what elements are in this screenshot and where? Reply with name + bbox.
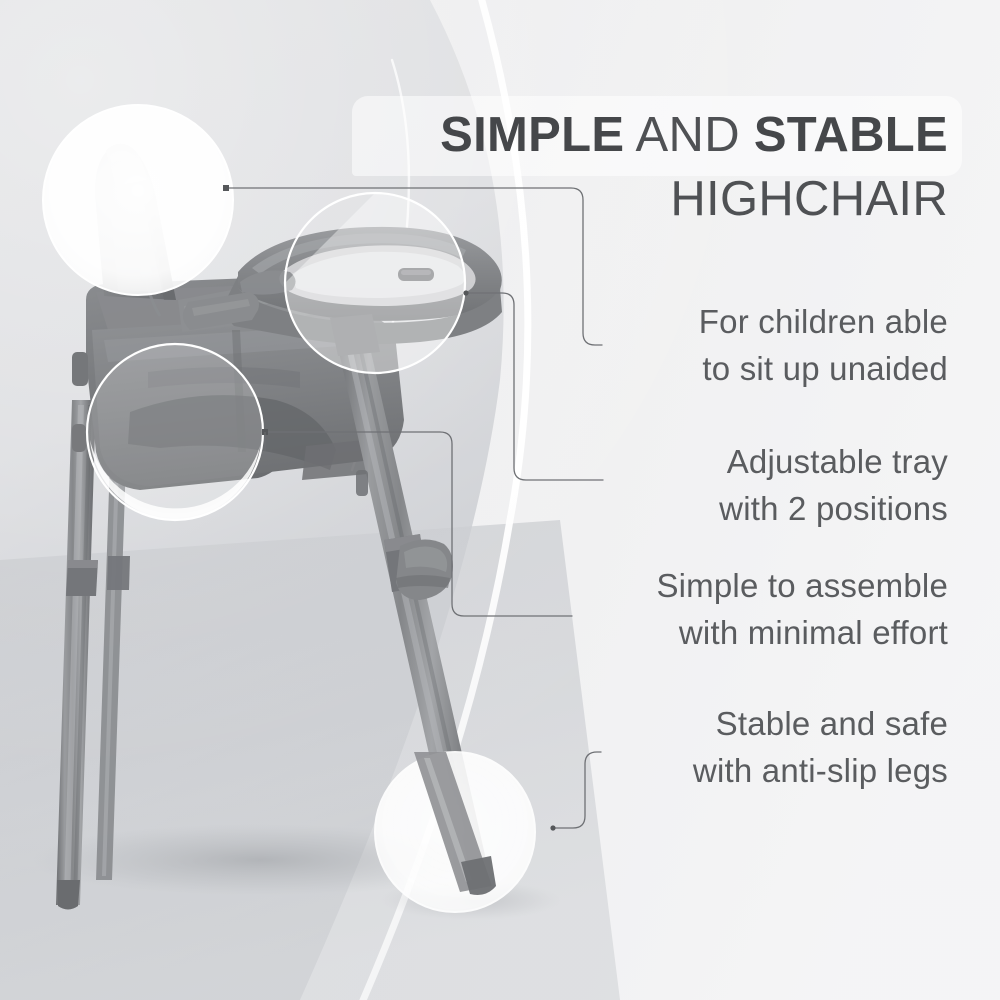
feature-callout-4: Stable and safe with anti-slip legs — [528, 700, 948, 794]
feature-1-line-2: to sit up unaided — [528, 345, 948, 392]
feature-2-line-1: Adjustable tray — [528, 438, 948, 485]
feature-3-line-2: with minimal effort — [528, 609, 948, 656]
headline-line-2: HIGHCHAIR — [308, 168, 948, 231]
headline-word-simple: SIMPLE — [440, 108, 624, 162]
feature-4-line-2: with anti-slip legs — [528, 747, 948, 794]
feature-callout-2: Adjustable tray with 2 positions — [528, 438, 948, 532]
feature-1-line-1: For children able — [528, 298, 948, 345]
infographic-canvas: SIMPLE AND STABLE HIGHCHAIR For children… — [0, 0, 1000, 1000]
headline-word-and: AND — [624, 108, 753, 162]
feature-callout-3: Simple to assemble with minimal effort — [528, 562, 948, 656]
headline-line-1: SIMPLE AND STABLE — [308, 104, 948, 167]
feature-3-line-1: Simple to assemble — [528, 562, 948, 609]
headline-word-stable: STABLE — [754, 108, 948, 162]
feature-callout-1: For children able to sit up unaided — [528, 298, 948, 392]
text-layer: SIMPLE AND STABLE HIGHCHAIR For children… — [0, 0, 1000, 1000]
feature-4-line-1: Stable and safe — [528, 700, 948, 747]
feature-2-line-2: with 2 positions — [528, 485, 948, 532]
